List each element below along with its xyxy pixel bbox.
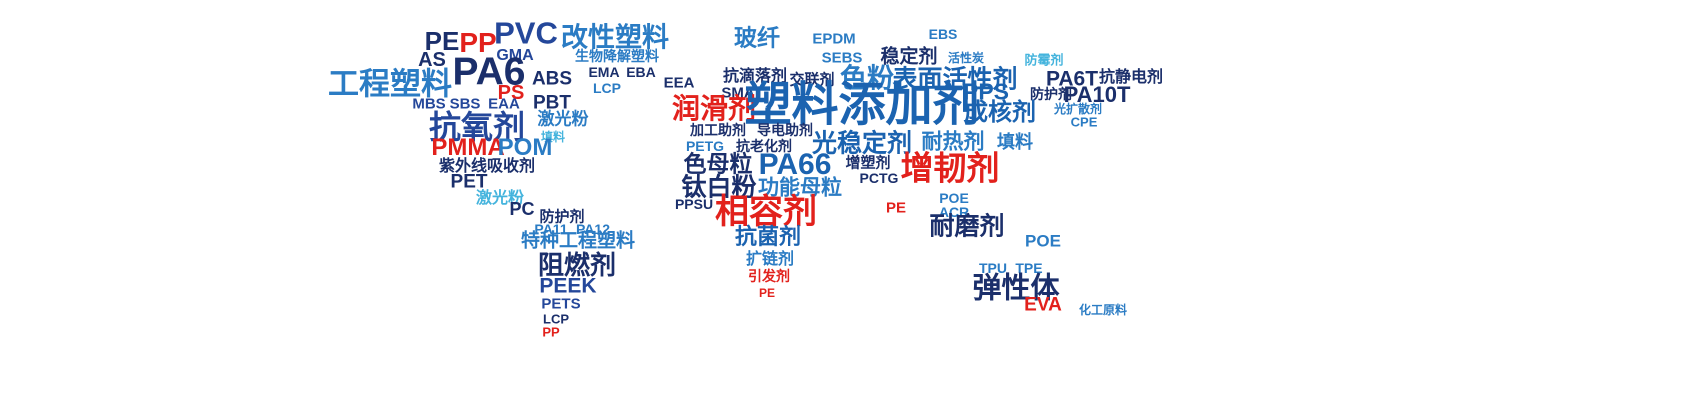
cloud-word[interactable]: PE [886,201,906,216]
cloud-word[interactable]: EBA [626,65,656,79]
cloud-word[interactable]: PPS [963,81,1009,104]
cloud-word[interactable]: 玻纤 [734,28,780,51]
cloud-word[interactable]: 扩链剂 [746,251,794,267]
cloud-word[interactable]: 化工原料 [1079,304,1127,316]
cloud-word[interactable]: PP [542,326,559,339]
cloud-word[interactable]: 润滑剂 [672,95,756,123]
cloud-word[interactable]: 相容剂 [715,195,817,229]
cloud-word[interactable]: EBS [929,27,958,41]
cloud-word[interactable]: 耐磨剂 [929,214,1004,239]
cloud-word[interactable]: 防霉剂 [1024,55,1063,68]
cloud-word[interactable]: 塑料添加剂 [745,82,980,129]
cloud-word[interactable]: PETS [541,297,580,312]
cloud-word[interactable]: PE [759,287,775,299]
cloud-word[interactable]: POE [939,191,969,205]
cloud-word[interactable]: 加工助剂 [690,124,746,138]
cloud-word[interactable]: PEEK [539,276,596,297]
cloud-word[interactable]: 激光粉 [538,112,589,129]
cloud-word[interactable]: 增韧剂 [901,152,1000,185]
cloud-word[interactable]: CPE [1071,116,1098,129]
cloud-word[interactable]: ABS [532,70,572,89]
cloud-word[interactable]: 增塑剂 [845,156,890,171]
cloud-word[interactable]: PPSU [675,197,713,211]
cloud-word[interactable]: LCP [593,81,621,95]
cloud-word[interactable]: PCTG [860,171,899,185]
cloud-word[interactable]: 生物降解塑料 [575,50,659,64]
cloud-word[interactable]: POE [1025,233,1061,250]
cloud-word[interactable]: 光扩散剂 [1054,103,1102,115]
cloud-word[interactable]: PC [509,200,534,218]
cloud-word[interactable]: 活性炭 [948,52,984,64]
cloud-word[interactable]: 填料 [997,134,1033,152]
word-cloud: PEPPPVCGMAASPA6ABS工程塑料PSMBSSBSEAAPBT激光粉抗… [0,0,1707,400]
cloud-word[interactable]: PVC [494,18,558,49]
cloud-word[interactable]: 导电助剂 [757,124,813,138]
cloud-word[interactable]: EMA [588,65,619,79]
cloud-word[interactable]: EVA [1024,296,1062,315]
cloud-word[interactable]: 引发剂 [748,270,790,284]
cloud-word[interactable]: 特种工程塑料 [521,232,635,251]
cloud-word[interactable]: 抗菌剂 [735,227,801,249]
cloud-word[interactable]: 改性塑料 [561,25,669,52]
cloud-word[interactable]: EEA [664,76,695,91]
cloud-word[interactable]: EPDM [812,32,855,47]
